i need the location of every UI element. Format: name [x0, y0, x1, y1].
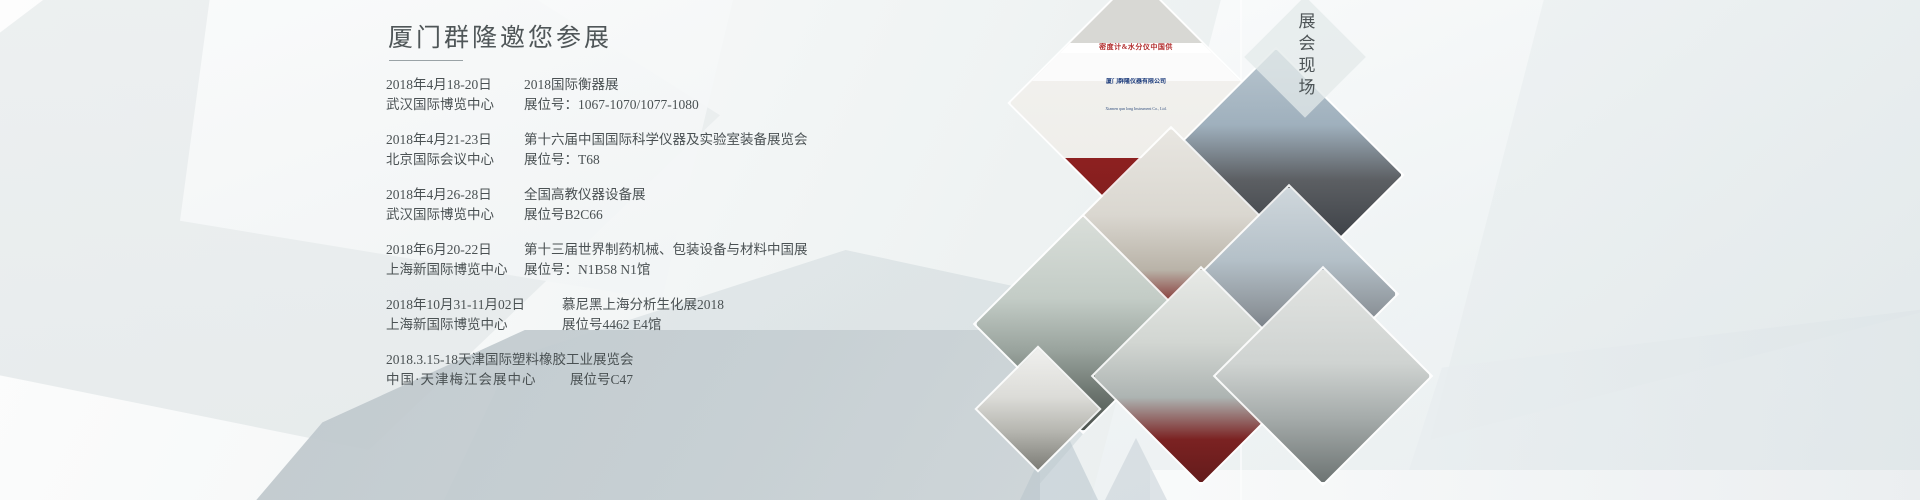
event-date: 2018年10月31-11月02日 [386, 295, 562, 315]
event-line-secondary: 上海新国际博览中心展位号4462 E4馆 [386, 315, 946, 335]
event-venue: 上海新国际博览中心 [386, 315, 562, 335]
event-venue: 北京国际会议中心 [386, 150, 524, 170]
event-booth: 展位号：N1B58 N1馆 [524, 260, 650, 280]
event-date: 2018年4月18-20日 [386, 75, 524, 95]
vertical-label-text: 展会现场 [1293, 12, 1318, 100]
event-booth: 展位号：T68 [524, 150, 600, 170]
event-item: 2018年10月31-11月02日慕尼黑上海分析生化展2018 上海新国际博览中… [386, 295, 946, 335]
banner-strip [1011, 53, 1261, 80]
event-item: 2018年4月21-23日第十六届中国国际科学仪器及实验室装备展览会 北京国际会… [386, 130, 946, 170]
event-venue: 武汉国际博览中心 [386, 205, 524, 225]
title-underline [389, 60, 463, 61]
event-booth: 展位号4462 E4馆 [562, 315, 661, 335]
event-line-primary: 2018年4月21-23日第十六届中国国际科学仪器及实验室装备展览会 [386, 130, 946, 150]
event-venue: 中国·天津梅江会展中心 [386, 370, 570, 390]
event-line-primary: 2018年10月31-11月02日慕尼黑上海分析生化展2018 [386, 295, 946, 315]
booth-banner-company-en: Xiamen qun long Instrument Co., Ltd. [1031, 106, 1241, 112]
event-line-primary: 2018年6月20-22日第十三届世界制药机械、包装设备与材料中国展 [386, 240, 946, 260]
event-date: 2018年6月20-22日 [386, 240, 524, 260]
event-name: 慕尼黑上海分析生化展2018 [562, 295, 724, 315]
event-item: 2018年6月20-22日第十三届世界制药机械、包装设备与材料中国展 上海新国际… [386, 240, 946, 280]
event-date: 2018.3.15-18天津国际塑料橡胶工业展览会 [386, 350, 634, 370]
page-title: 厦门群隆邀您参展 [388, 18, 946, 54]
event-line-primary: 2018年4月18-20日2018国际衡器展 [386, 75, 946, 95]
event-item: 2018年4月26-28日全国高教仪器设备展 武汉国际博览中心展位号B2C66 [386, 185, 946, 225]
event-booth: 展位号：1067-1070/1077-1080 [524, 95, 699, 115]
vertical-label: 展会现场 [1262, 14, 1348, 100]
event-booth: 展位号B2C66 [524, 205, 603, 225]
event-item: 2018年4月18-20日2018国际衡器展 武汉国际博览中心展位号：1067-… [386, 75, 946, 115]
bg-shape-bottom-right [1380, 300, 1920, 500]
booth-banner-title: 密度计&水分仪中国供 [1031, 43, 1241, 52]
event-line-primary: 2018.3.15-18天津国际塑料橡胶工业展览会 [386, 350, 946, 370]
event-date: 2018年4月21-23日 [386, 130, 524, 150]
event-item: 2018.3.15-18天津国际塑料橡胶工业展览会 中国·天津梅江会展中心展位号… [386, 350, 946, 390]
event-line-secondary: 上海新国际博览中心展位号：N1B58 N1馆 [386, 260, 946, 280]
event-line-secondary: 武汉国际博览中心展位号B2C66 [386, 205, 946, 225]
event-booth: 展位号C47 [570, 370, 633, 390]
bg-shape-far-right-pane [1430, 0, 1920, 440]
event-name: 第十六届中国国际科学仪器及实验室装备展览会 [524, 130, 808, 150]
event-line-primary: 2018年4月26-28日全国高教仪器设备展 [386, 185, 946, 205]
event-venue: 武汉国际博览中心 [386, 95, 524, 115]
event-line-secondary: 武汉国际博览中心展位号：1067-1070/1077-1080 [386, 95, 946, 115]
booth-banner-company: 厦门群隆仪器有限公司 [1031, 78, 1241, 86]
event-line-secondary: 中国·天津梅江会展中心展位号C47 [386, 370, 946, 390]
event-venue: 上海新国际博览中心 [386, 260, 524, 280]
invitation-panel: 厦门群隆邀您参展 2018年4月18-20日2018国际衡器展 武汉国际博览中心… [386, 18, 946, 405]
event-name: 全国高教仪器设备展 [524, 185, 646, 205]
event-date: 2018年4月26-28日 [386, 185, 524, 205]
event-name: 2018国际衡器展 [524, 75, 619, 95]
event-name: 第十三届世界制药机械、包装设备与材料中国展 [524, 240, 808, 260]
banner-stage: 厦门群隆邀您参展 2018年4月18-20日2018国际衡器展 武汉国际博览中心… [0, 0, 1920, 500]
event-line-secondary: 北京国际会议中心展位号：T68 [386, 150, 946, 170]
